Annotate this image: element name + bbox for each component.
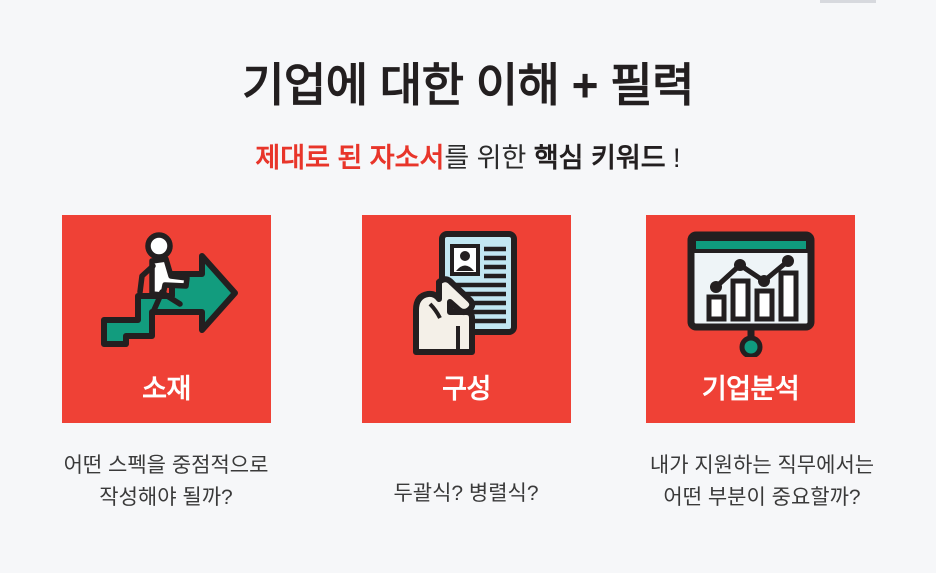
subtitle-connector: 를 위한 xyxy=(444,143,534,173)
caption-sojae: 어떤 스펙을 중점적으로 작성해야 될까? xyxy=(16,450,316,514)
subtitle-keyword: 핵심 키워드 xyxy=(534,143,666,173)
card-row: 소재 xyxy=(0,215,936,425)
top-divider-line xyxy=(820,0,876,3)
caption-row: 어떤 스펙을 중점적으로 작성해야 될까? 두괄식? 병렬식? 내가 지원하는 … xyxy=(0,444,936,554)
card-guseong[interactable]: 구성 xyxy=(362,215,571,423)
caption-line: 어떤 스펙을 중점적으로 xyxy=(16,450,316,482)
card-label-sojae: 소재 xyxy=(62,373,271,405)
hand-holding-resume-icon xyxy=(362,229,571,359)
slide-canvas: 기업에 대한 이해 + 필력 제대로 된 자소서를 위한 핵심 키워드 ! xyxy=(0,0,936,573)
card-label-gieopbunseok: 기업분석 xyxy=(646,373,855,405)
caption-line: 작성해야 될까? xyxy=(16,482,316,514)
subtitle-highlight: 제대로 된 자소서 xyxy=(255,143,444,173)
caption-line: 내가 지원하는 직무에서는 xyxy=(602,450,922,482)
caption-guseong: 두괄식? 병렬식? xyxy=(316,478,616,510)
caption-gieopbunseok: 내가 지원하는 직무에서는 어떤 부분이 중요할까? xyxy=(602,450,922,514)
page-subtitle: 제대로 된 자소서를 위한 핵심 키워드 ! xyxy=(0,140,936,176)
presentation-bar-chart-icon xyxy=(646,229,855,359)
person-climbing-stairs-arrow-icon xyxy=(62,229,271,359)
card-sojae[interactable]: 소재 xyxy=(62,215,271,423)
subtitle-exclamation: ! xyxy=(666,143,681,173)
caption-line: 두괄식? 병렬식? xyxy=(316,478,616,510)
page-title: 기업에 대한 이해 + 필력 xyxy=(0,56,936,114)
card-label-guseong: 구성 xyxy=(362,373,571,405)
card-gieopbunseok[interactable]: 기업분석 xyxy=(646,215,855,423)
caption-line: 어떤 부분이 중요할까? xyxy=(602,482,922,514)
